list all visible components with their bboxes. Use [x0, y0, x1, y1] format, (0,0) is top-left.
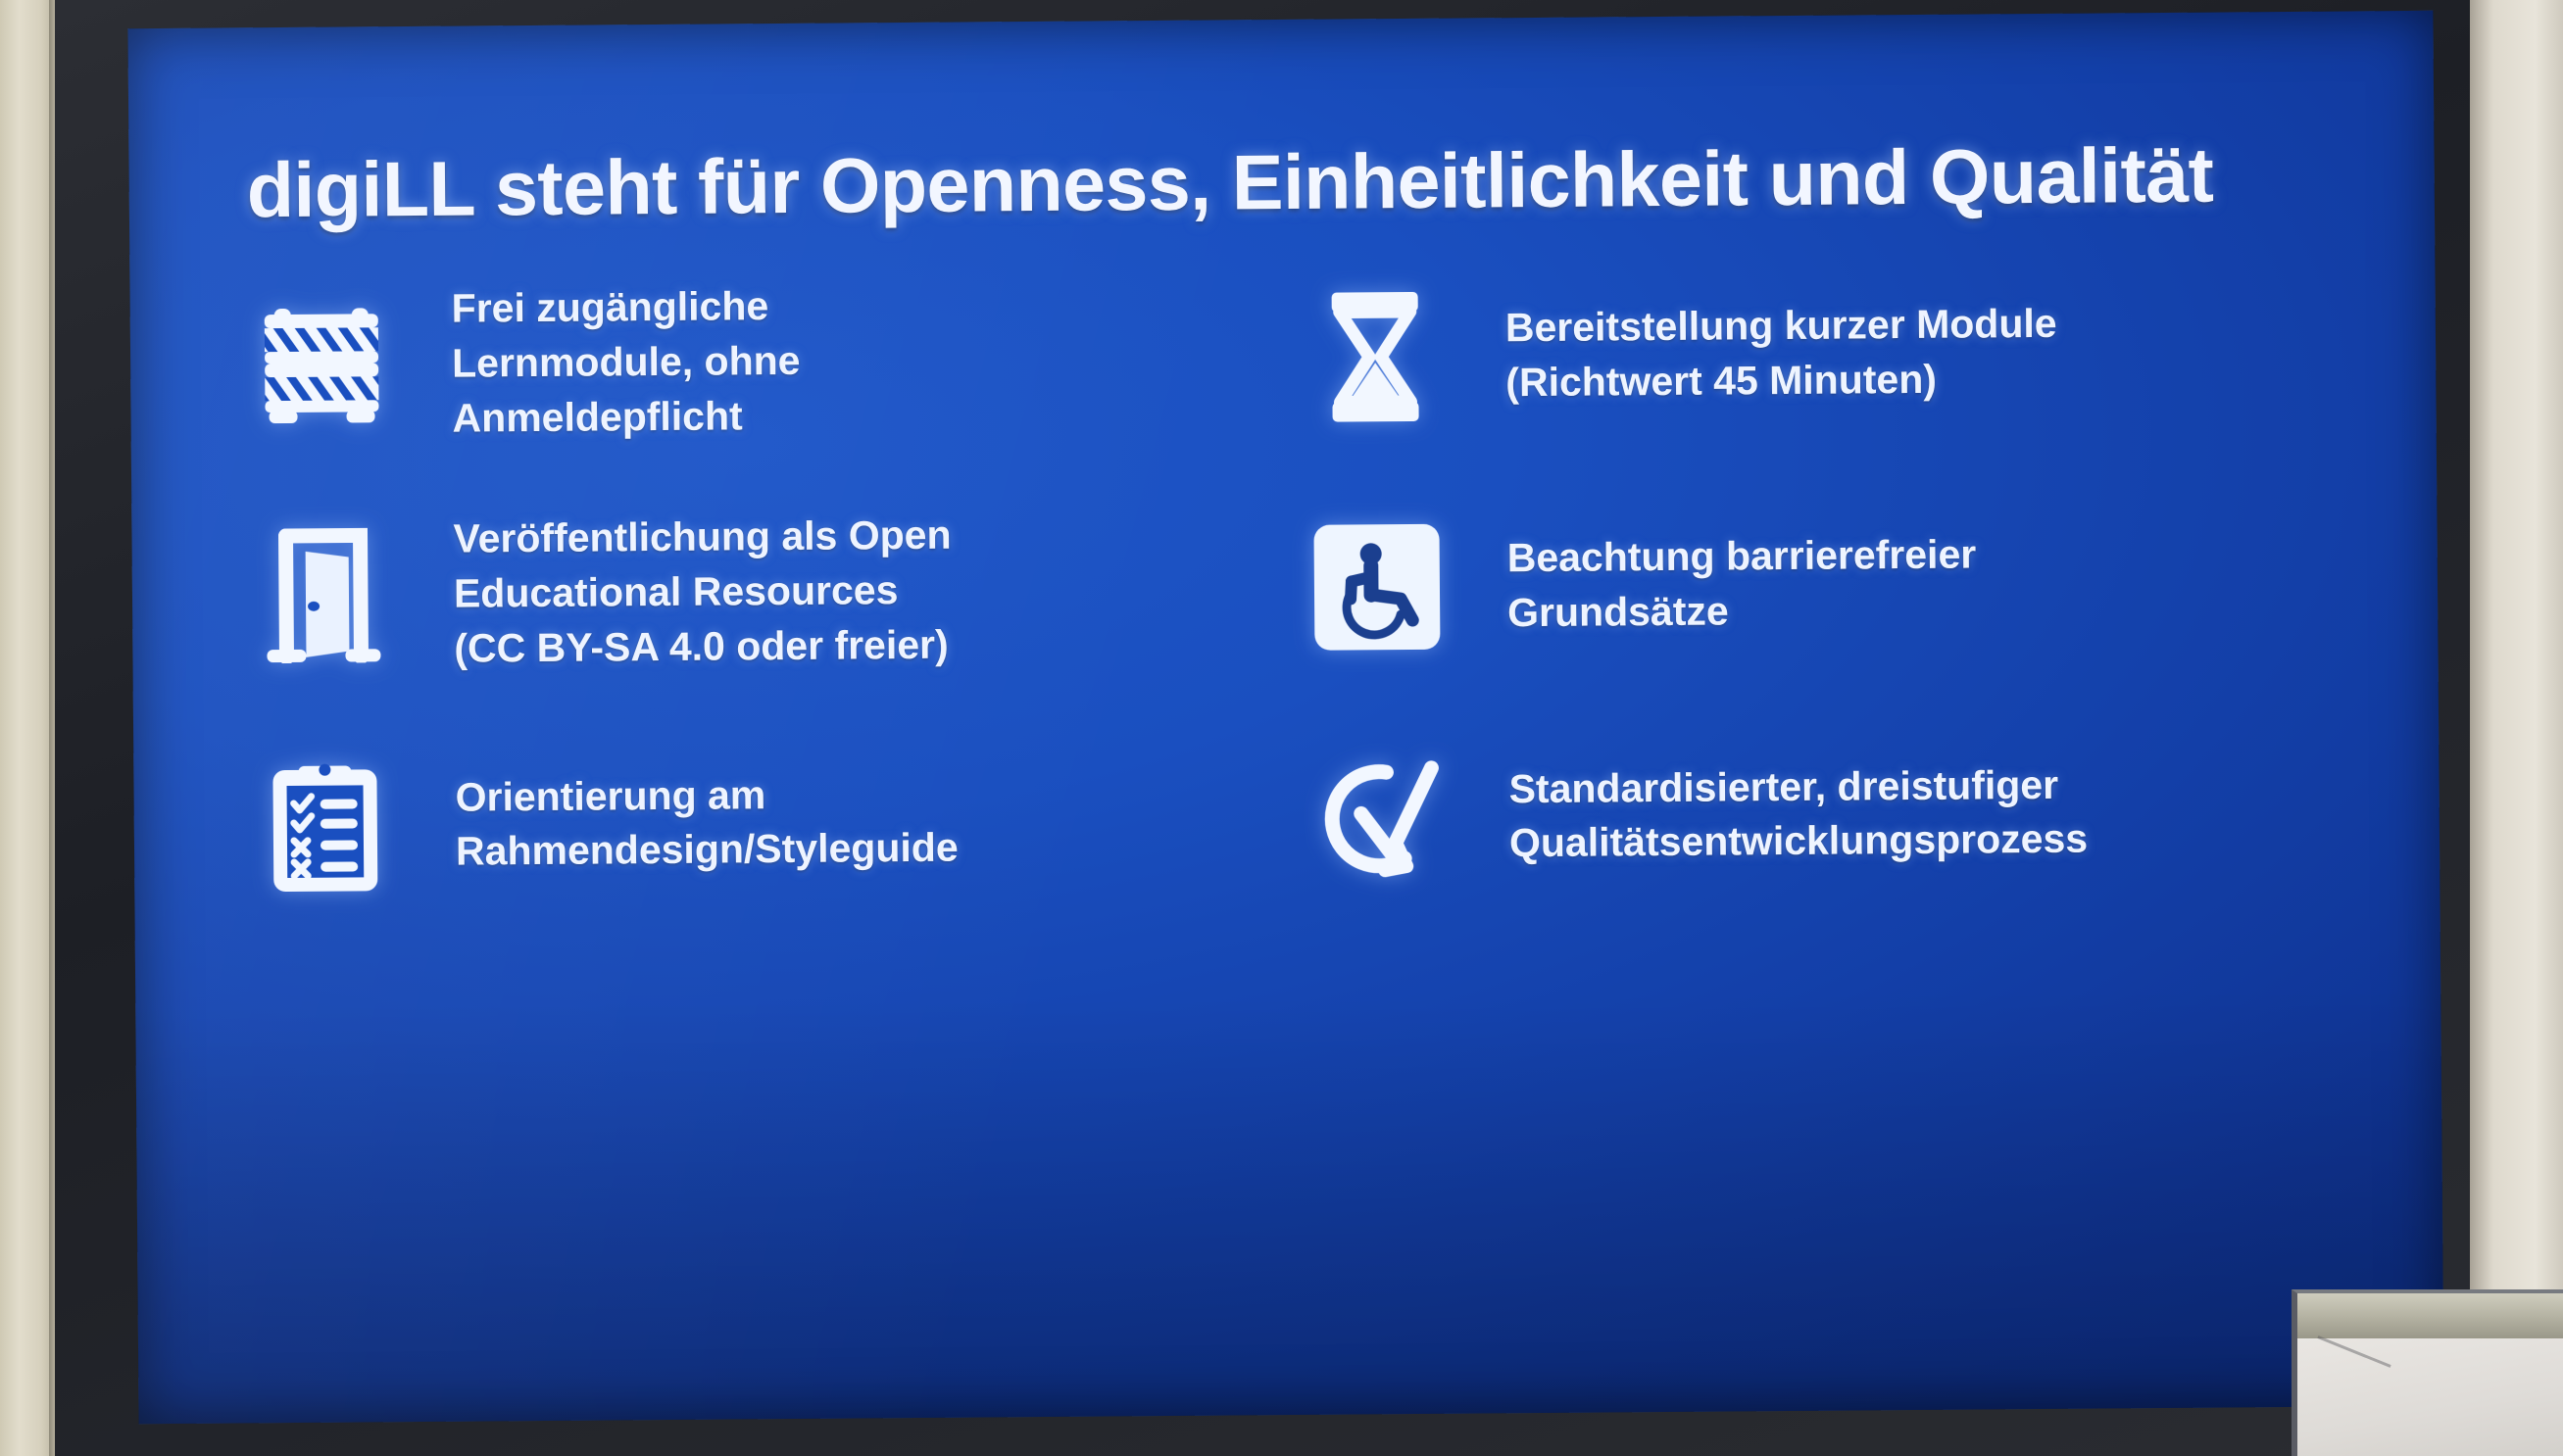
slide-title: digiLL steht für Openness, Einheitlichke… [246, 129, 2305, 235]
clipboard-checklist-icon [251, 747, 399, 904]
flipchart-board [2292, 1289, 2563, 1456]
feature-item-quality-process: Standardisierter, dreistufiger Qualitäts… [1305, 698, 2350, 931]
feature-grid: Frei zugängliche Lernmodule, ohne Anmeld… [247, 237, 2349, 940]
hourglass-icon [1301, 277, 1449, 435]
feature-item-label: Standardisierter, dreistufiger Qualitäts… [1508, 757, 2088, 871]
flipchart-paper [2297, 1338, 2563, 1456]
feature-item-oer-license: Veröffentlichung als Open Educational Re… [249, 475, 1295, 708]
flipchart-rail [2297, 1293, 2563, 1338]
feature-item-styleguide: Orientierung am Rahmendesign/Styleguide [251, 706, 1297, 940]
feature-item-label: Frei zugängliche Lernmodule, ohne Anmeld… [451, 279, 801, 446]
cycle-checkmark-icon [1305, 739, 1453, 897]
slide-content: digiLL steht für Openness, Einheitlichke… [127, 11, 2443, 1424]
feature-item-label: Bereitstellung kurzer Module (Richtwert … [1505, 297, 2058, 411]
wall-left [0, 0, 55, 1456]
road-barrier-icon [248, 286, 396, 444]
feature-item-label: Orientierung am Rahmendesign/Styleguide [455, 766, 958, 880]
feature-item-accessibility: Beachtung barrierefreier Grundsätze [1303, 467, 2348, 701]
feature-item-open-access: Frei zugängliche Lernmodule, ohne Anmeld… [247, 245, 1293, 478]
open-door-icon [249, 516, 397, 674]
photo-scene: digiLL steht für Openness, Einheitlichke… [0, 0, 2563, 1456]
feature-item-short-modules: Bereitstellung kurzer Module (Richtwert … [1301, 237, 2346, 470]
wheelchair-accessibility-icon [1303, 509, 1451, 666]
feature-item-label: Beachtung barrierefreier Grundsätze [1507, 528, 1977, 641]
feature-item-label: Veröffentlichung als Open Educational Re… [453, 509, 952, 676]
presentation-screen: digiLL steht für Openness, Einheitlichke… [127, 11, 2443, 1424]
wall-right [2470, 0, 2563, 1456]
